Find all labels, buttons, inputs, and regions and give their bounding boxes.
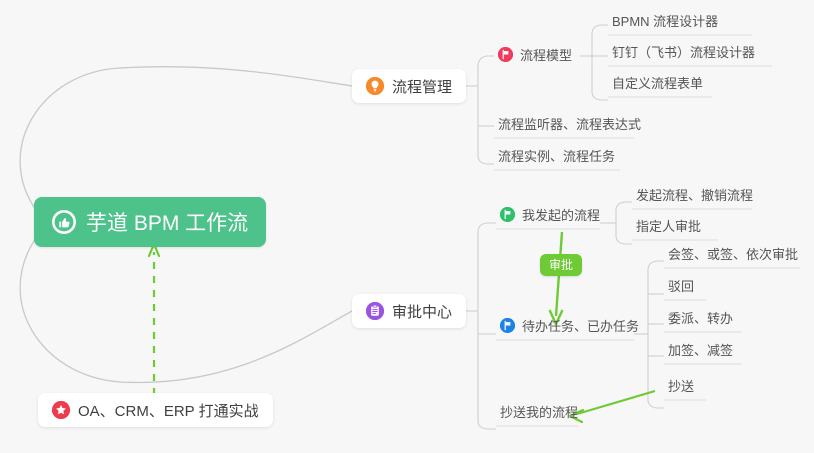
flag-icon — [500, 207, 515, 222]
node-label: 流程实例、流程任务 — [498, 146, 615, 165]
branch-label: 流程管理 — [392, 76, 452, 97]
node-process-listener-expression[interactable]: 流程监听器、流程表达式 — [494, 114, 645, 136]
node-label: 抄送我的流程 — [500, 402, 578, 421]
node-start-cancel-process[interactable]: 发起流程、撤销流程 — [632, 185, 757, 207]
footnote-label: OA、CRM、ERP 打通实战 — [78, 400, 259, 421]
thumbs-up-icon — [52, 210, 76, 234]
node-label: 钉钉（飞书）流程设计器 — [612, 42, 755, 61]
node-label: BPMN 流程设计器 — [612, 11, 718, 30]
footnote-node[interactable]: OA、CRM、ERP 打通实战 — [38, 393, 273, 427]
node-label: 委派、转办 — [668, 308, 733, 327]
node-label: 会签、或签、依次审批 — [668, 244, 798, 263]
approval-flow-arrow — [550, 232, 562, 324]
clipboard-icon — [366, 302, 384, 320]
node-add-remove-sign[interactable]: 加签、减签 — [664, 340, 737, 362]
node-label: 指定人审批 — [636, 216, 701, 235]
node-process-model[interactable]: 流程模型 — [494, 45, 576, 67]
root-label: 芋道 BPM 工作流 — [86, 207, 248, 237]
node-reject[interactable]: 驳回 — [664, 276, 698, 298]
node-label: 发起流程、撤销流程 — [636, 185, 753, 204]
root-node[interactable]: 芋道 BPM 工作流 — [34, 197, 266, 247]
flag-icon — [498, 47, 513, 62]
branch-label: 审批中心 — [392, 301, 452, 322]
node-todo-done-tasks[interactable]: 待办任务、已办任务 — [496, 316, 643, 338]
node-cc[interactable]: 抄送 — [664, 376, 698, 398]
node-cc-to-me[interactable]: 抄送我的流程 — [496, 402, 582, 424]
node-label: 流程模型 — [520, 45, 572, 64]
lightbulb-icon — [366, 77, 384, 95]
cc-flow-arrow — [570, 391, 655, 422]
footnote-connector — [149, 244, 159, 395]
branch-approval-center[interactable]: 审批中心 — [352, 294, 466, 328]
node-label: 驳回 — [668, 276, 694, 295]
node-bpmn-designer[interactable]: BPMN 流程设计器 — [608, 11, 722, 33]
node-label: 自定义流程表单 — [612, 73, 703, 92]
node-assignee-approval[interactable]: 指定人审批 — [632, 216, 705, 238]
node-label: 我发起的流程 — [522, 205, 600, 224]
node-delegate-transfer[interactable]: 委派、转办 — [664, 308, 737, 330]
node-my-initiated-process[interactable]: 我发起的流程 — [496, 205, 604, 227]
node-label: 抄送 — [668, 376, 694, 395]
node-custom-process-form[interactable]: 自定义流程表单 — [608, 73, 707, 95]
node-label: 流程监听器、流程表达式 — [498, 114, 641, 133]
node-dingtalk-feishu-designer[interactable]: 钉钉（飞书）流程设计器 — [608, 42, 759, 64]
branch-process-management[interactable]: 流程管理 — [352, 69, 466, 103]
node-label: 待办任务、已办任务 — [522, 316, 639, 335]
node-process-instance-task[interactable]: 流程实例、流程任务 — [494, 146, 619, 168]
star-icon — [52, 401, 70, 419]
node-countersign-or-sequential[interactable]: 会签、或签、依次审批 — [664, 244, 802, 266]
flag-icon — [500, 318, 515, 333]
approval-tag: 审批 — [540, 254, 582, 276]
mindmap-canvas: 芋道 BPM 工作流 OA、CRM、ERP 打通实战 流程管理 — [0, 0, 814, 453]
node-label: 加签、减签 — [668, 340, 733, 359]
